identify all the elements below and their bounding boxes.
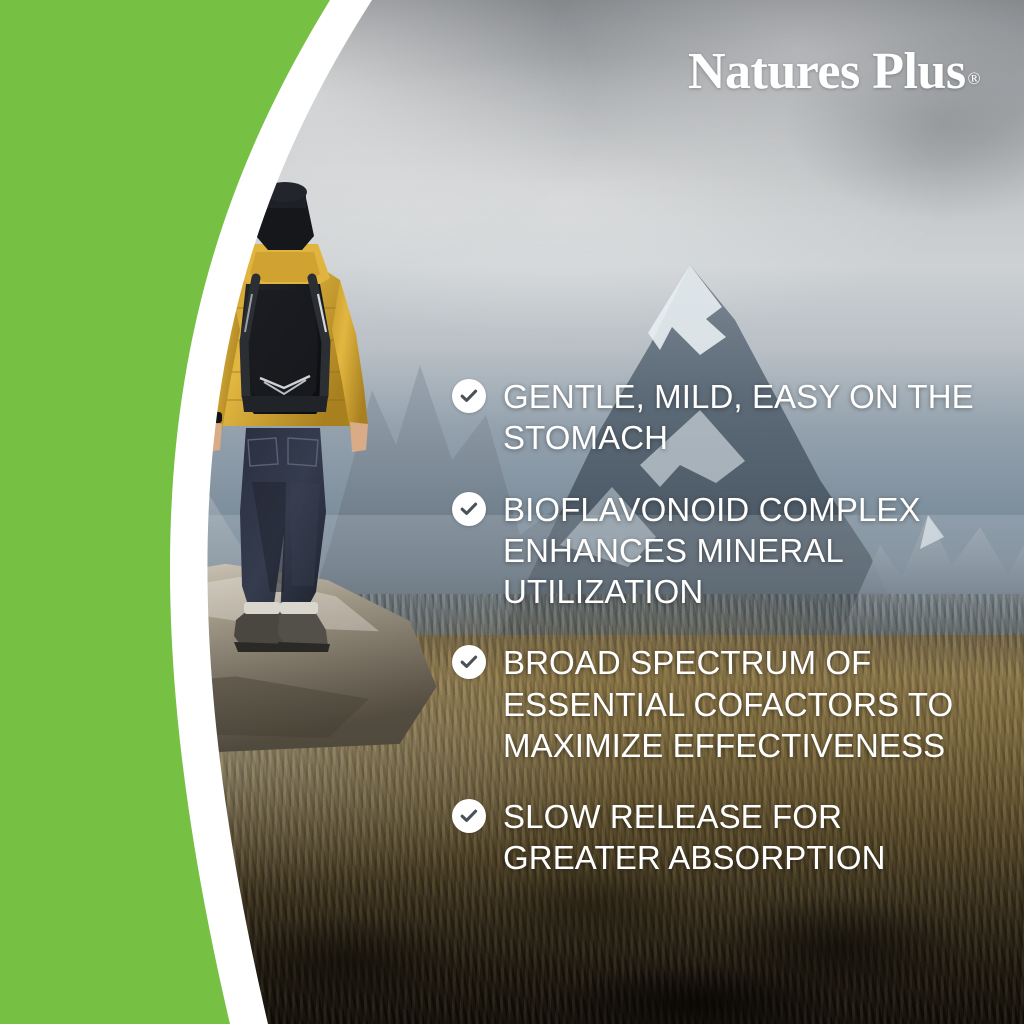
- list-item: BIOFLAVONOID COMPLEX ENHANCES MINERAL UT…: [452, 489, 992, 613]
- check-circle-icon: [452, 645, 486, 679]
- benefit-label: SLOW RELEASE FOR GREATER ABSORPTION: [503, 796, 992, 879]
- benefit-label: GENTLE, MILD, EASY ON THE STOMACH: [503, 376, 992, 459]
- registered-trademark-icon: ®: [968, 69, 980, 88]
- product-benefits-banner: Natures Plus® GENTLE, MILD, EASY ON THE …: [0, 0, 1024, 1024]
- check-circle-icon: [452, 492, 486, 526]
- benefits-list: GENTLE, MILD, EASY ON THE STOMACH BIOFLA…: [452, 376, 992, 879]
- benefit-label: BIOFLAVONOID COMPLEX ENHANCES MINERAL UT…: [503, 489, 992, 613]
- brand-logo: Natures Plus®: [688, 46, 980, 98]
- list-item: BROAD SPECTRUM OF ESSENTIAL COFACTORS TO…: [452, 642, 992, 766]
- benefit-label: BROAD SPECTRUM OF ESSENTIAL COFACTORS TO…: [503, 642, 992, 766]
- brand-logo-text: Natures Plus: [688, 43, 966, 100]
- list-item: GENTLE, MILD, EASY ON THE STOMACH: [452, 376, 992, 459]
- check-circle-icon: [452, 799, 486, 833]
- check-circle-icon: [452, 379, 486, 413]
- hiker-figure: [160, 182, 410, 682]
- list-item: SLOW RELEASE FOR GREATER ABSORPTION: [452, 796, 992, 879]
